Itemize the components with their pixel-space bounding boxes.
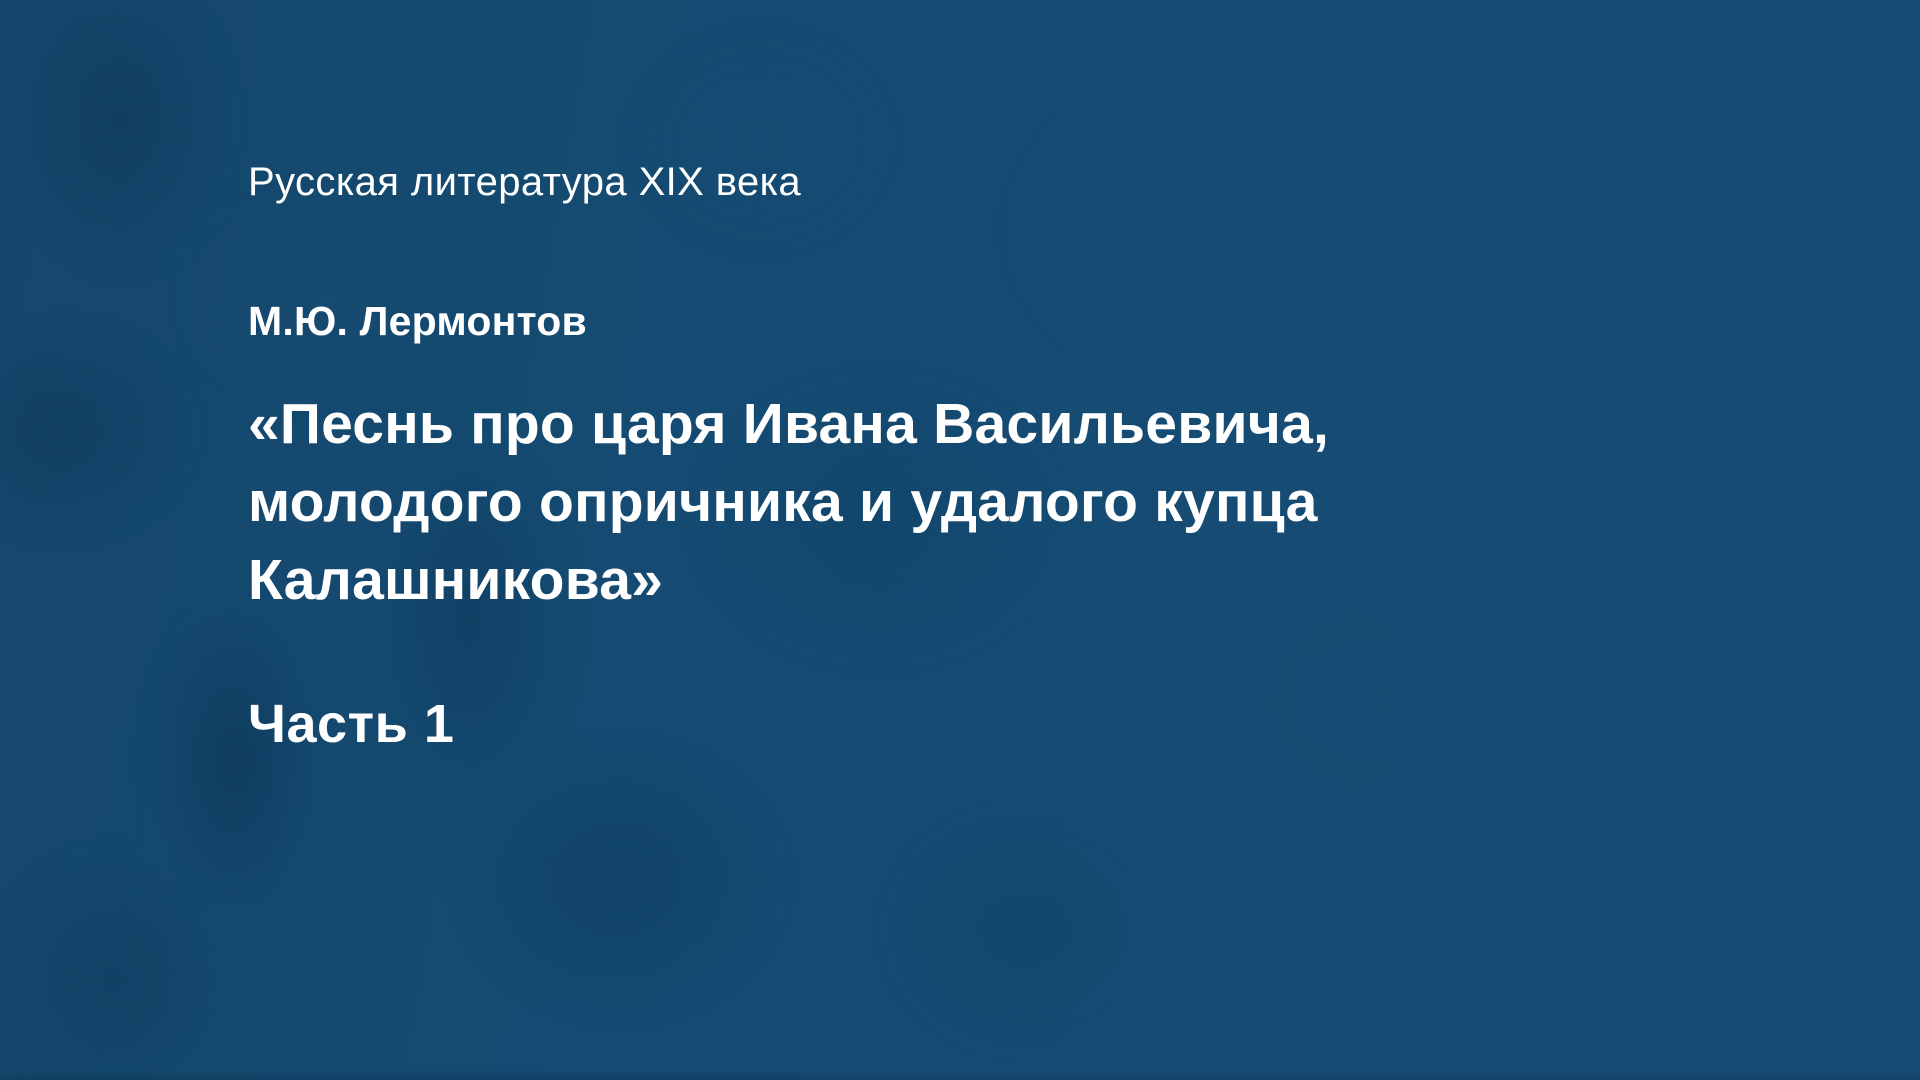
slide-content: Русская литература XIX века М.Ю. Лермонт… <box>248 0 1808 1080</box>
author-name: М.Ю. Лермонтов <box>248 297 587 346</box>
part-label: Часть 1 <box>248 692 454 757</box>
course-subject-label: Русская литература XIX века <box>248 158 801 206</box>
work-title-line-1: «Песнь про царя Ивана Васильевича, <box>248 385 1448 463</box>
work-title: «Песнь про царя Ивана Васильевича, молод… <box>248 385 1448 619</box>
work-title-line-3: Калашникова» <box>248 541 1448 619</box>
work-title-line-2: молодого опричника и удалого купца <box>248 463 1448 541</box>
presentation-slide: Русская литература XIX века М.Ю. Лермонт… <box>0 0 1920 1080</box>
